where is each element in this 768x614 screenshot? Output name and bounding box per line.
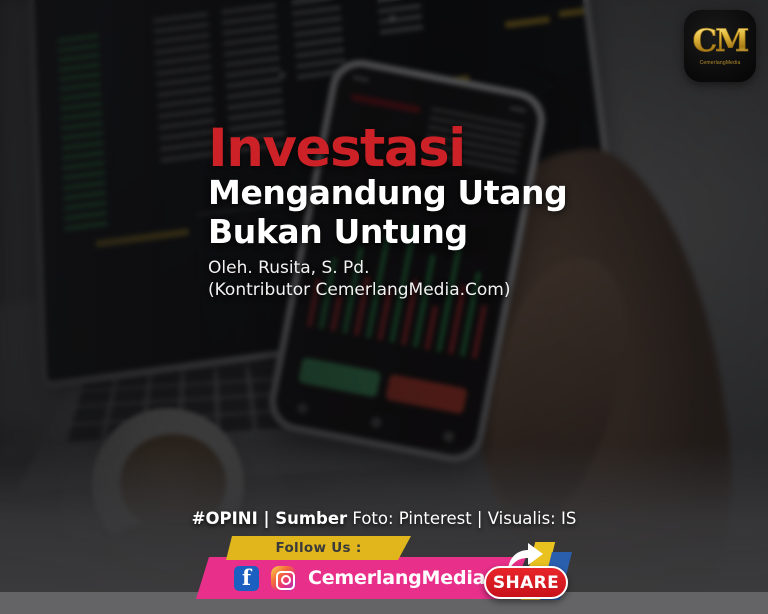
facebook-icon[interactable] — [234, 566, 259, 591]
instagram-icon[interactable] — [271, 566, 296, 591]
byline-author: Oleh. Rusita, S. Pd. — [208, 258, 628, 280]
share-pill[interactable]: SHARE — [484, 566, 568, 599]
headline-block: Investasi Mengandung Utang Bukan Untung … — [208, 124, 628, 302]
share-label: SHARE — [493, 573, 559, 593]
credit-line: #OPINI | Sumber Foto: Pinterest | Visual… — [0, 509, 768, 528]
byline-block: Oleh. Rusita, S. Pd. (Kontributor Cemerl… — [208, 258, 628, 302]
headline-accent-word: Investasi — [208, 124, 628, 174]
follow-us-label: Follow Us : — [275, 540, 361, 556]
cemerlang-media-logo: CM CemerlangMedia — [684, 10, 756, 82]
follow-us-label-bar: Follow Us : — [226, 536, 411, 560]
headline-line-2: Bukan Untung — [208, 213, 628, 252]
logo-wordmark: CemerlangMedia — [700, 60, 741, 66]
byline-role: (Kontributor CemerlangMedia.Com) — [208, 280, 628, 302]
article-poster: CM CemerlangMedia Investasi Mengandung U… — [0, 0, 768, 614]
social-handle-label: CemerlangMedia — [308, 567, 485, 589]
logo-monogram: CM — [693, 26, 748, 57]
credit-normal: Foto: Pinterest | Visualis: IS — [347, 509, 576, 528]
social-handle-bar: CemerlangMedia — [196, 557, 526, 599]
credit-bold: #OPINI | Sumber — [192, 509, 348, 528]
headline-line-1: Mengandung Utang — [208, 174, 628, 213]
share-button[interactable]: SHARE — [484, 541, 568, 603]
